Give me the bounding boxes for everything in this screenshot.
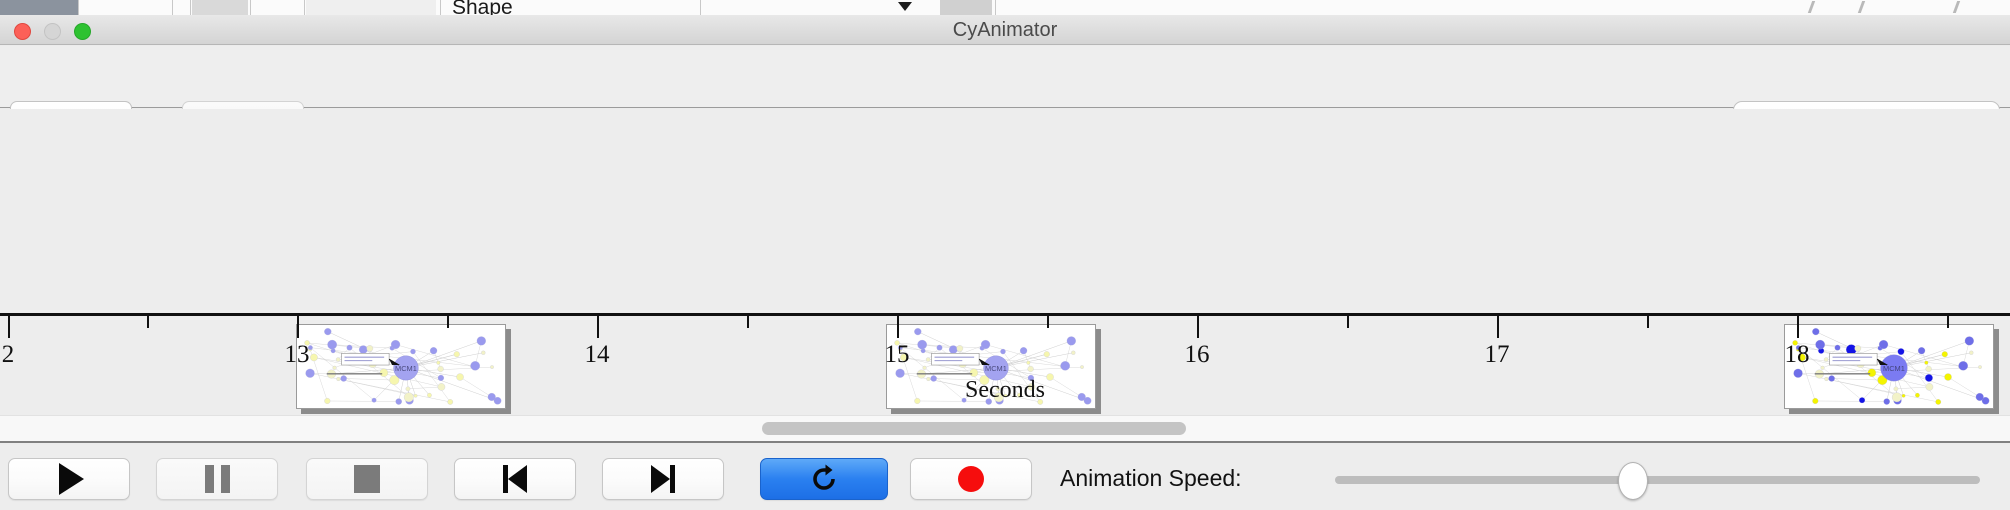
timeline-tick-major [1797, 316, 1799, 338]
timeline-tick-minor [1647, 316, 1649, 328]
timeline-tick-label: 18 [1785, 341, 1810, 369]
timeline-axis-title: Seconds [0, 377, 2010, 404]
timeline-tick-major [297, 316, 299, 338]
timeline-tick-minor [747, 316, 749, 328]
play-icon [59, 463, 84, 495]
timeline-tick-major [8, 316, 10, 338]
animation-speed-slider[interactable] [1335, 476, 1980, 484]
play-button[interactable] [8, 458, 130, 500]
background-window-word: Shape [452, 0, 513, 15]
timeline-tick-minor [447, 316, 449, 328]
timeline-tick-major [597, 316, 599, 338]
timeline-tick-label: 16 [1185, 341, 1210, 369]
timeline-tick-minor [1047, 316, 1049, 328]
timeline-tick-minor [147, 316, 149, 328]
pause-button[interactable] [156, 458, 278, 500]
background-sort-arrow [898, 2, 912, 11]
loop-button[interactable] [760, 458, 888, 500]
loop-icon [808, 463, 840, 495]
slider-track [1335, 476, 1980, 484]
timeline-scrollbar-thumb[interactable] [762, 422, 1186, 435]
background-window-strip: Shape [0, 0, 2010, 15]
background-selected-cell [0, 0, 78, 15]
timeline-tick-label: 15 [885, 341, 910, 369]
stop-icon [354, 465, 380, 493]
cyanimator-window: Shape CyAnimator Clear All Frames MCM1MC… [0, 0, 2010, 510]
window-title: CyAnimator [0, 15, 2010, 45]
skip-to-start-button[interactable] [454, 458, 576, 500]
svg-text:MCM1: MCM1 [985, 364, 1007, 373]
timeline-tick-label: 13 [285, 341, 310, 369]
skip-to-end-button[interactable] [602, 458, 724, 500]
timeline-scrollbar[interactable] [0, 415, 2010, 443]
skip-end-icon [651, 465, 675, 493]
animation-speed-label: Animation Speed: [1060, 465, 1242, 492]
timeline-tick-label: 17 [1485, 341, 1510, 369]
timeline-tick-major [897, 316, 899, 338]
slider-thumb[interactable] [1618, 462, 1648, 500]
record-icon [958, 466, 984, 492]
timeline-panel[interactable]: MCM1MCM1MCM1 2131415161718 Seconds [0, 109, 2010, 415]
timeline-tick-label: 14 [585, 341, 610, 369]
skip-start-icon [503, 465, 527, 493]
stop-button[interactable] [306, 458, 428, 500]
playback-bar: Animation Speed: [0, 445, 2010, 510]
timeline-tick-label: 2 [2, 341, 15, 369]
toolbar: Clear All Frames [0, 46, 2010, 108]
timeline-tick-minor [1947, 316, 1949, 328]
svg-text:MCM1: MCM1 [395, 364, 417, 373]
timeline-axis-line [0, 313, 2010, 316]
title-bar[interactable]: CyAnimator [0, 15, 2010, 45]
pause-icon [205, 465, 230, 493]
record-button[interactable] [910, 458, 1032, 500]
timeline-tick-major [1497, 316, 1499, 338]
timeline-tick-minor [1347, 316, 1349, 328]
svg-text:MCM1: MCM1 [1883, 364, 1905, 373]
timeline-tick-major [1197, 316, 1199, 338]
